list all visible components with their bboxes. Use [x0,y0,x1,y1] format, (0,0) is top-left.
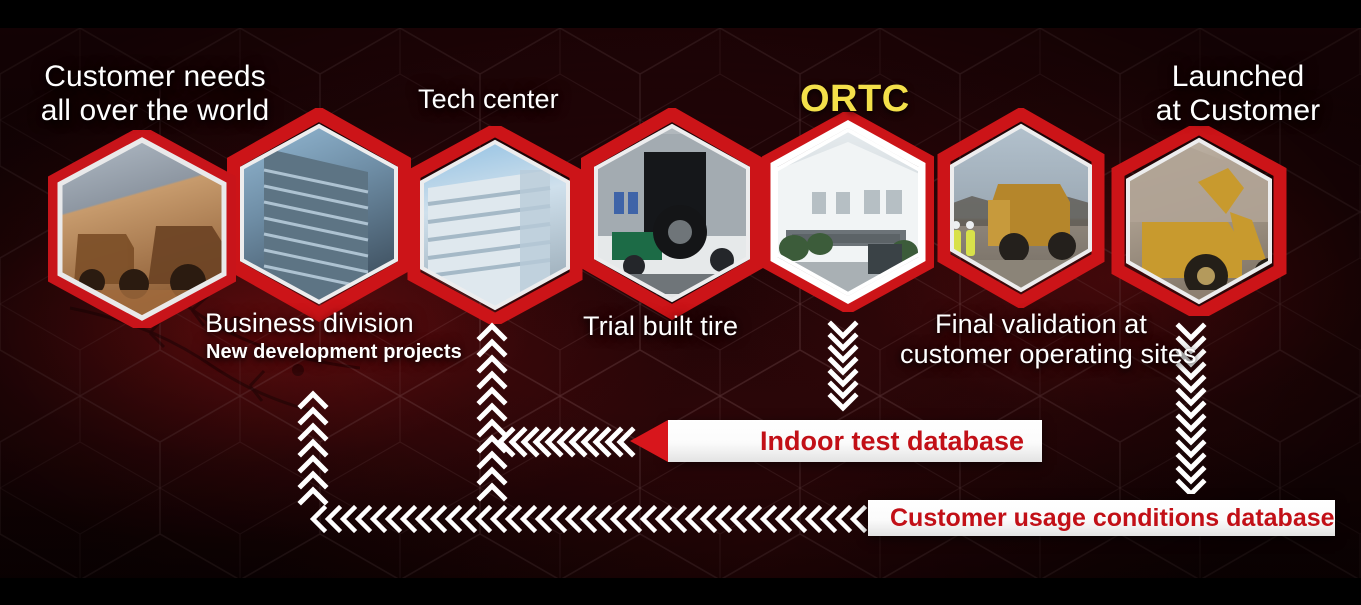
arrow-strip-ortc-down [826,320,860,414]
letterbox-top [0,0,1361,28]
diagram-canvas: Customer needs all over the world Tech c… [0,0,1361,605]
label-business-division-sub: New development projects [206,341,462,363]
banner-indoor-label: Indoor test database [668,426,1024,457]
hexagon-trial-built-tire[interactable] [572,108,772,320]
banner-arrowhead-icon [630,420,668,462]
banner-usage-label: Customer usage conditions database [868,504,1335,533]
hexagon-tech-center[interactable] [398,126,592,324]
label-tech-center: Tech center [418,84,559,114]
arrow-strip-tech-center-up [475,322,509,506]
banner-indoor-test-database[interactable]: Indoor test database [630,420,1042,462]
label-trial-built-tire: Trial built tire [583,311,738,341]
label-business-division: Business division [205,308,414,338]
label-customer-needs: Customer needs all over the world [20,60,290,127]
arrow-strip-indoor-feed-left [498,424,638,460]
hexagon-launched-at-customer[interactable] [1102,126,1296,316]
label-launched-at-customer: Launched at Customer [1108,60,1361,127]
hexagon-final-validation[interactable] [928,108,1114,308]
label-final-validation: Final validation at customer operating s… [900,309,1182,369]
banner-body: Indoor test database [668,420,1042,462]
hexagon-ortc[interactable] [752,112,944,312]
arrow-strip-business-division-up [296,386,330,506]
letterbox-bottom [0,578,1361,605]
arrow-strip-usage-feed-left [310,503,876,535]
label-ortc: ORTC [800,78,910,121]
hexagon-business-division[interactable] [218,108,420,322]
banner-body: Customer usage conditions database [868,500,1335,536]
banner-customer-usage-database[interactable]: Customer usage conditions database [868,500,1290,536]
hexagon-customer-needs[interactable] [38,130,246,328]
